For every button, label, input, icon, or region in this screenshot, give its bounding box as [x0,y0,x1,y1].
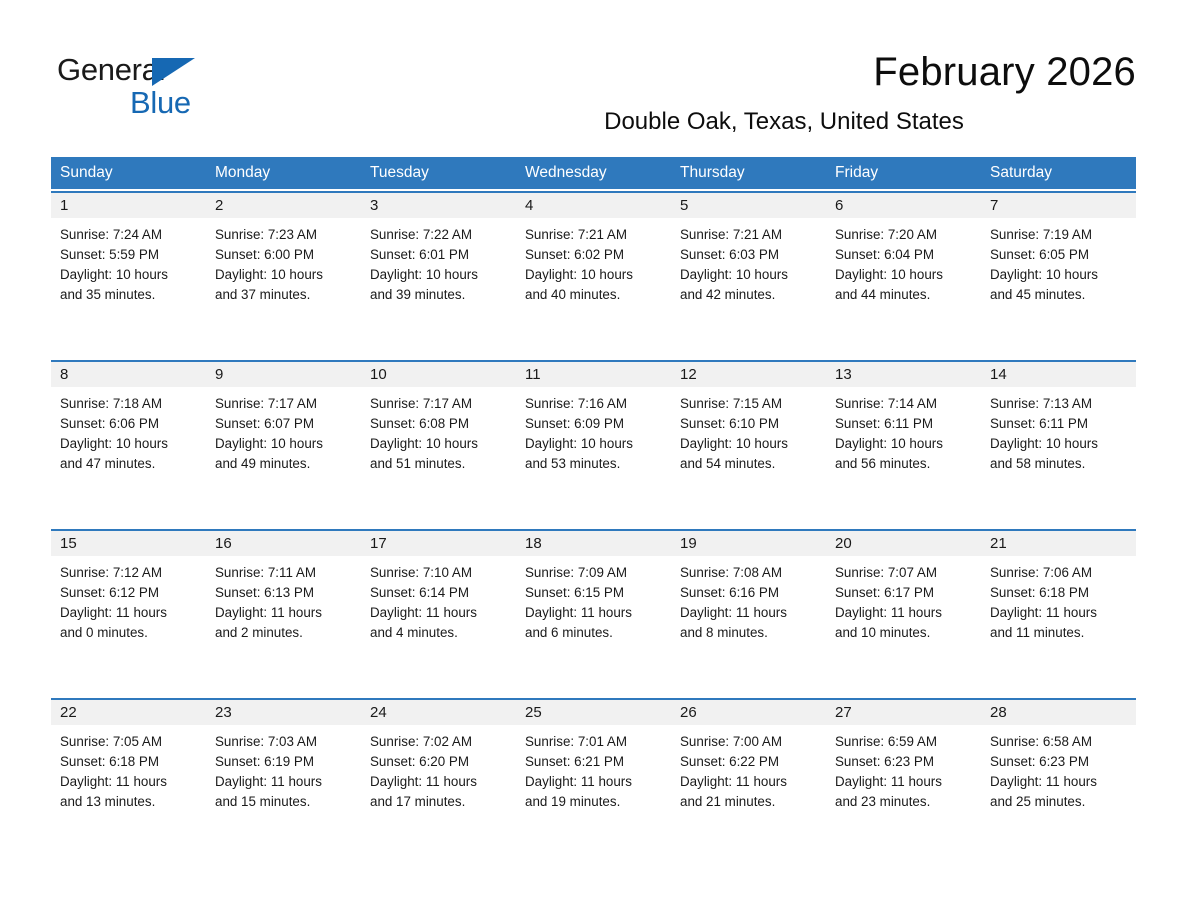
day-number[interactable]: 16 [206,531,361,556]
day-cell[interactable]: Sunrise: 7:18 AM Sunset: 6:06 PM Dayligh… [51,387,206,527]
calendar-page: General Blue February 2026 Double Oak, T… [0,0,1188,918]
day-number-band: 15 16 17 18 19 20 21 [51,531,1136,556]
sunset-text: Sunset: 6:14 PM [370,583,507,603]
day-cell[interactable]: Sunrise: 7:10 AM Sunset: 6:14 PM Dayligh… [361,556,516,696]
day-number[interactable]: 20 [826,531,981,556]
daylight-text-line2: and 37 minutes. [215,285,352,305]
sunrise-text: Sunrise: 7:12 AM [60,563,197,583]
sunset-text: Sunset: 6:06 PM [60,414,197,434]
daylight-text-line2: and 40 minutes. [525,285,662,305]
day-cell[interactable]: Sunrise: 7:13 AM Sunset: 6:11 PM Dayligh… [981,387,1136,527]
day-number[interactable]: 13 [826,362,981,387]
sunset-text: Sunset: 6:01 PM [370,245,507,265]
day-cell[interactable]: Sunrise: 7:15 AM Sunset: 6:10 PM Dayligh… [671,387,826,527]
sunrise-text: Sunrise: 7:06 AM [990,563,1127,583]
day-number[interactable]: 21 [981,531,1136,556]
daylight-text-line2: and 45 minutes. [990,285,1127,305]
daylight-text-line1: Daylight: 11 hours [990,603,1127,623]
daylight-text-line2: and 8 minutes. [680,623,817,643]
day-cell[interactable]: Sunrise: 7:06 AM Sunset: 6:18 PM Dayligh… [981,556,1136,696]
day-number[interactable]: 7 [981,193,1136,218]
sunset-text: Sunset: 6:13 PM [215,583,352,603]
dow-friday: Friday [826,157,981,189]
sunset-text: Sunset: 6:16 PM [680,583,817,603]
sunset-text: Sunset: 6:11 PM [990,414,1127,434]
sunrise-text: Sunrise: 7:24 AM [60,225,197,245]
daylight-text-line1: Daylight: 10 hours [60,265,197,285]
day-number[interactable]: 26 [671,700,826,725]
daylight-text-line2: and 35 minutes. [60,285,197,305]
sunrise-text: Sunrise: 6:59 AM [835,732,972,752]
daylight-text-line1: Daylight: 11 hours [835,772,972,792]
page-header: General Blue February 2026 Double Oak, T… [0,0,1188,112]
day-of-week-header-row: Sunday Monday Tuesday Wednesday Thursday… [51,157,1136,189]
day-number[interactable]: 25 [516,700,671,725]
sunset-text: Sunset: 6:03 PM [680,245,817,265]
day-number[interactable]: 9 [206,362,361,387]
sunrise-text: Sunrise: 7:11 AM [215,563,352,583]
daylight-text-line2: and 42 minutes. [680,285,817,305]
daylight-text-line1: Daylight: 10 hours [990,434,1127,454]
sunset-text: Sunset: 6:18 PM [990,583,1127,603]
day-number-band: 1 2 3 4 5 6 7 [51,193,1136,218]
day-cell[interactable]: Sunrise: 7:09 AM Sunset: 6:15 PM Dayligh… [516,556,671,696]
daylight-text-line2: and 25 minutes. [990,792,1127,812]
daylight-text-line2: and 4 minutes. [370,623,507,643]
day-number[interactable]: 15 [51,531,206,556]
day-number[interactable]: 18 [516,531,671,556]
daylight-text-line2: and 47 minutes. [60,454,197,474]
sunrise-text: Sunrise: 7:01 AM [525,732,662,752]
daylight-text-line1: Daylight: 10 hours [60,434,197,454]
page-title: February 2026 [436,48,1136,96]
daylight-text-line1: Daylight: 10 hours [680,434,817,454]
day-number[interactable]: 12 [671,362,826,387]
logo-bottom-row: Blue [57,86,257,120]
daylight-text-line1: Daylight: 11 hours [680,772,817,792]
sunrise-text: Sunrise: 6:58 AM [990,732,1127,752]
dow-thursday: Thursday [671,157,826,189]
sunrise-text: Sunrise: 7:00 AM [680,732,817,752]
day-number[interactable]: 11 [516,362,671,387]
day-cell[interactable]: Sunrise: 7:08 AM Sunset: 6:16 PM Dayligh… [671,556,826,696]
week-row: 22 23 24 25 26 27 28 Sunrise: 7:05 AM Su… [51,698,1136,865]
day-number[interactable]: 2 [206,193,361,218]
sunset-text: Sunset: 6:17 PM [835,583,972,603]
daylight-text-line2: and 13 minutes. [60,792,197,812]
day-number[interactable]: 22 [51,700,206,725]
sunrise-text: Sunrise: 7:15 AM [680,394,817,414]
day-number[interactable]: 8 [51,362,206,387]
daylight-text-line1: Daylight: 11 hours [60,603,197,623]
daylight-text-line2: and 11 minutes. [990,623,1127,643]
daylight-text-line1: Daylight: 10 hours [215,434,352,454]
sunset-text: Sunset: 6:20 PM [370,752,507,772]
day-number[interactable]: 24 [361,700,516,725]
sunrise-text: Sunrise: 7:21 AM [680,225,817,245]
day-cell[interactable]: Sunrise: 7:03 AM Sunset: 6:19 PM Dayligh… [206,725,361,865]
sunrise-text: Sunrise: 7:10 AM [370,563,507,583]
day-cell[interactable]: Sunrise: 7:22 AM Sunset: 6:01 PM Dayligh… [361,218,516,358]
day-number[interactable]: 14 [981,362,1136,387]
calendar-grid: Sunday Monday Tuesday Wednesday Thursday… [51,157,1136,865]
day-number[interactable]: 28 [981,700,1136,725]
day-cell[interactable]: Sunrise: 7:16 AM Sunset: 6:09 PM Dayligh… [516,387,671,527]
day-cell[interactable]: Sunrise: 7:24 AM Sunset: 5:59 PM Dayligh… [51,218,206,358]
title-block: February 2026 Double Oak, Texas, United … [436,48,1136,136]
daylight-text-line1: Daylight: 11 hours [525,603,662,623]
sunset-text: Sunset: 6:10 PM [680,414,817,434]
sunrise-text: Sunrise: 7:13 AM [990,394,1127,414]
daylight-text-line1: Daylight: 11 hours [215,772,352,792]
day-info-row: Sunrise: 7:18 AM Sunset: 6:06 PM Dayligh… [51,387,1136,527]
daylight-text-line1: Daylight: 10 hours [215,265,352,285]
day-cell[interactable]: Sunrise: 7:12 AM Sunset: 6:12 PM Dayligh… [51,556,206,696]
day-number-band: 22 23 24 25 26 27 28 [51,700,1136,725]
daylight-text-line2: and 6 minutes. [525,623,662,643]
logo-top-row: General [57,52,257,88]
day-cell[interactable]: Sunrise: 7:17 AM Sunset: 6:07 PM Dayligh… [206,387,361,527]
sunrise-text: Sunrise: 7:23 AM [215,225,352,245]
sunrise-text: Sunrise: 7:05 AM [60,732,197,752]
sunset-text: Sunset: 6:08 PM [370,414,507,434]
sunset-text: Sunset: 6:07 PM [215,414,352,434]
sunrise-text: Sunrise: 7:17 AM [370,394,507,414]
sunset-text: Sunset: 6:21 PM [525,752,662,772]
dow-saturday: Saturday [981,157,1136,189]
sunset-text: Sunset: 6:15 PM [525,583,662,603]
logo-text-blue: Blue [130,85,191,120]
sunrise-text: Sunrise: 7:19 AM [990,225,1127,245]
sunrise-text: Sunrise: 7:17 AM [215,394,352,414]
dow-tuesday: Tuesday [361,157,516,189]
day-number[interactable]: 1 [51,193,206,218]
day-cell[interactable]: Sunrise: 7:05 AM Sunset: 6:18 PM Dayligh… [51,725,206,865]
sunrise-text: Sunrise: 7:08 AM [680,563,817,583]
sunset-text: Sunset: 6:02 PM [525,245,662,265]
daylight-text-line1: Daylight: 10 hours [525,434,662,454]
sunrise-text: Sunrise: 7:02 AM [370,732,507,752]
sunset-text: Sunset: 6:12 PM [60,583,197,603]
sunset-text: Sunset: 6:05 PM [990,245,1127,265]
daylight-text-line2: and 56 minutes. [835,454,972,474]
day-cell[interactable]: Sunrise: 7:20 AM Sunset: 6:04 PM Dayligh… [826,218,981,358]
daylight-text-line2: and 0 minutes. [60,623,197,643]
sunrise-text: Sunrise: 7:16 AM [525,394,662,414]
day-number[interactable]: 19 [671,531,826,556]
sunset-text: Sunset: 6:22 PM [680,752,817,772]
day-number[interactable]: 23 [206,700,361,725]
daylight-text-line1: Daylight: 11 hours [60,772,197,792]
day-number[interactable]: 6 [826,193,981,218]
daylight-text-line1: Daylight: 11 hours [525,772,662,792]
daylight-text-line2: and 51 minutes. [370,454,507,474]
sunset-text: Sunset: 6:11 PM [835,414,972,434]
day-number-band: 8 9 10 11 12 13 14 [51,362,1136,387]
dow-wednesday: Wednesday [516,157,671,189]
day-info-row: Sunrise: 7:05 AM Sunset: 6:18 PM Dayligh… [51,725,1136,865]
sunset-text: Sunset: 6:19 PM [215,752,352,772]
daylight-text-line2: and 21 minutes. [680,792,817,812]
daylight-text-line2: and 54 minutes. [680,454,817,474]
sunset-text: Sunset: 6:23 PM [835,752,972,772]
daylight-text-line1: Daylight: 10 hours [835,265,972,285]
day-cell[interactable]: Sunrise: 7:23 AM Sunset: 6:00 PM Dayligh… [206,218,361,358]
sunset-text: Sunset: 6:23 PM [990,752,1127,772]
daylight-text-line1: Daylight: 10 hours [525,265,662,285]
day-cell[interactable]: Sunrise: 7:21 AM Sunset: 6:03 PM Dayligh… [671,218,826,358]
daylight-text-line1: Daylight: 11 hours [835,603,972,623]
page-subtitle: Double Oak, Texas, United States [436,108,1136,136]
daylight-text-line2: and 58 minutes. [990,454,1127,474]
daylight-text-line2: and 49 minutes. [215,454,352,474]
sunrise-text: Sunrise: 7:22 AM [370,225,507,245]
logo-text-general: General [57,52,165,87]
day-cell[interactable]: Sunrise: 7:00 AM Sunset: 6:22 PM Dayligh… [671,725,826,865]
day-cell[interactable]: Sunrise: 7:21 AM Sunset: 6:02 PM Dayligh… [516,218,671,358]
daylight-text-line2: and 15 minutes. [215,792,352,812]
daylight-text-line2: and 39 minutes. [370,285,507,305]
day-number[interactable]: 27 [826,700,981,725]
daylight-text-line1: Daylight: 11 hours [370,772,507,792]
sunrise-text: Sunrise: 7:03 AM [215,732,352,752]
daylight-text-line1: Daylight: 10 hours [370,434,507,454]
sunrise-text: Sunrise: 7:18 AM [60,394,197,414]
dow-monday: Monday [206,157,361,189]
day-number[interactable]: 3 [361,193,516,218]
week-row: 15 16 17 18 19 20 21 Sunrise: 7:12 AM Su… [51,529,1136,696]
daylight-text-line2: and 53 minutes. [525,454,662,474]
daylight-text-line1: Daylight: 10 hours [370,265,507,285]
daylight-text-line1: Daylight: 10 hours [835,434,972,454]
daylight-text-line2: and 2 minutes. [215,623,352,643]
daylight-text-line2: and 10 minutes. [835,623,972,643]
sunset-text: Sunset: 6:18 PM [60,752,197,772]
sunset-text: Sunset: 6:09 PM [525,414,662,434]
sunrise-text: Sunrise: 7:09 AM [525,563,662,583]
daylight-text-line2: and 17 minutes. [370,792,507,812]
sunset-text: Sunset: 5:59 PM [60,245,197,265]
day-cell[interactable]: Sunrise: 7:02 AM Sunset: 6:20 PM Dayligh… [361,725,516,865]
day-number[interactable]: 4 [516,193,671,218]
sunrise-text: Sunrise: 7:14 AM [835,394,972,414]
daylight-text-line1: Daylight: 11 hours [370,603,507,623]
daylight-text-line1: Daylight: 10 hours [680,265,817,285]
daylight-text-line1: Daylight: 11 hours [680,603,817,623]
week-row: 8 9 10 11 12 13 14 Sunrise: 7:18 AM Suns… [51,360,1136,527]
sunrise-text: Sunrise: 7:21 AM [525,225,662,245]
day-cell[interactable]: Sunrise: 6:58 AM Sunset: 6:23 PM Dayligh… [981,725,1136,865]
day-number[interactable]: 5 [671,193,826,218]
dow-sunday: Sunday [51,157,206,189]
day-number[interactable]: 10 [361,362,516,387]
day-cell[interactable]: Sunrise: 7:01 AM Sunset: 6:21 PM Dayligh… [516,725,671,865]
daylight-text-line1: Daylight: 11 hours [215,603,352,623]
day-cell[interactable]: Sunrise: 6:59 AM Sunset: 6:23 PM Dayligh… [826,725,981,865]
day-info-row: Sunrise: 7:24 AM Sunset: 5:59 PM Dayligh… [51,218,1136,358]
daylight-text-line2: and 44 minutes. [835,285,972,305]
week-row: 1 2 3 4 5 6 7 Sunrise: 7:24 AM Sunset: 5… [51,191,1136,358]
daylight-text-line1: Daylight: 11 hours [990,772,1127,792]
day-cell[interactable]: Sunrise: 7:17 AM Sunset: 6:08 PM Dayligh… [361,387,516,527]
logo-triangle-icon [152,58,195,86]
daylight-text-line2: and 23 minutes. [835,792,972,812]
sunrise-text: Sunrise: 7:20 AM [835,225,972,245]
sunset-text: Sunset: 6:04 PM [835,245,972,265]
sunrise-text: Sunrise: 7:07 AM [835,563,972,583]
daylight-text-line2: and 19 minutes. [525,792,662,812]
day-cell[interactable]: Sunrise: 7:07 AM Sunset: 6:17 PM Dayligh… [826,556,981,696]
day-info-row: Sunrise: 7:12 AM Sunset: 6:12 PM Dayligh… [51,556,1136,696]
day-cell[interactable]: Sunrise: 7:19 AM Sunset: 6:05 PM Dayligh… [981,218,1136,358]
day-cell[interactable]: Sunrise: 7:14 AM Sunset: 6:11 PM Dayligh… [826,387,981,527]
day-cell[interactable]: Sunrise: 7:11 AM Sunset: 6:13 PM Dayligh… [206,556,361,696]
day-number[interactable]: 17 [361,531,516,556]
daylight-text-line1: Daylight: 10 hours [990,265,1127,285]
general-blue-logo[interactable]: General Blue [57,52,257,124]
sunset-text: Sunset: 6:00 PM [215,245,352,265]
